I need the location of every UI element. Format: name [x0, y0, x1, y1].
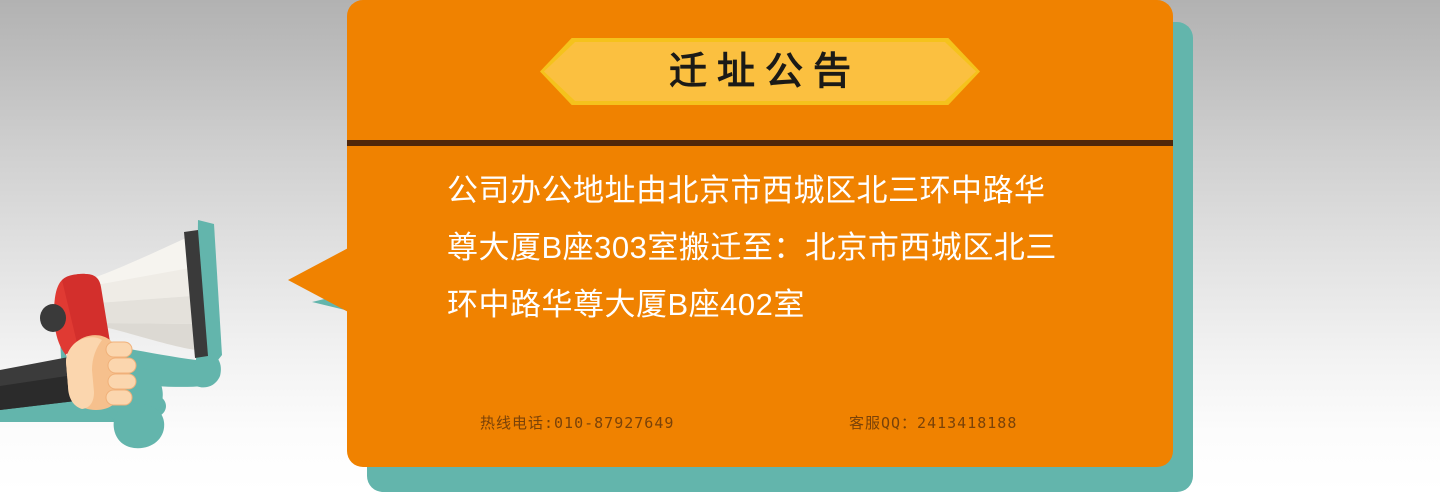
hand-holding-megaphone-illustration [0, 190, 300, 492]
announcement-line-1: 公司办公地址由北京市西城区北三环中路华 [447, 162, 1095, 219]
hotline-text: 热线电话:010-87927649 [480, 412, 674, 433]
page-title: 迁址公告 [540, 38, 980, 105]
announcement-line-3: 环中路华尊大厦B座402室 [447, 276, 1095, 333]
hand [66, 335, 136, 410]
contact-footer: 热线电话:010-87927649 客服QQ：2413418188 [347, 407, 1173, 437]
announcement-banner-image: 迁址公告 公司办公地址由北京市西城区北三环中路华 尊大厦B座303室搬迁至：北京… [0, 0, 1440, 492]
announcement-body: 公司办公地址由北京市西城区北三环中路华 尊大厦B座303室搬迁至：北京市西城区北… [447, 162, 1095, 333]
title-banner: 迁址公告 [540, 38, 980, 105]
qq-text: 客服QQ：2413418188 [849, 412, 1017, 433]
announcement-card: 迁址公告 公司办公地址由北京市西城区北三环中路华 尊大厦B座303室搬迁至：北京… [347, 0, 1173, 467]
header-divider [347, 140, 1173, 146]
announcement-line-2: 尊大厦B座303室搬迁至：北京市西城区北三 [447, 219, 1095, 276]
card-tail [288, 246, 352, 314]
megaphone-knob [40, 304, 66, 332]
